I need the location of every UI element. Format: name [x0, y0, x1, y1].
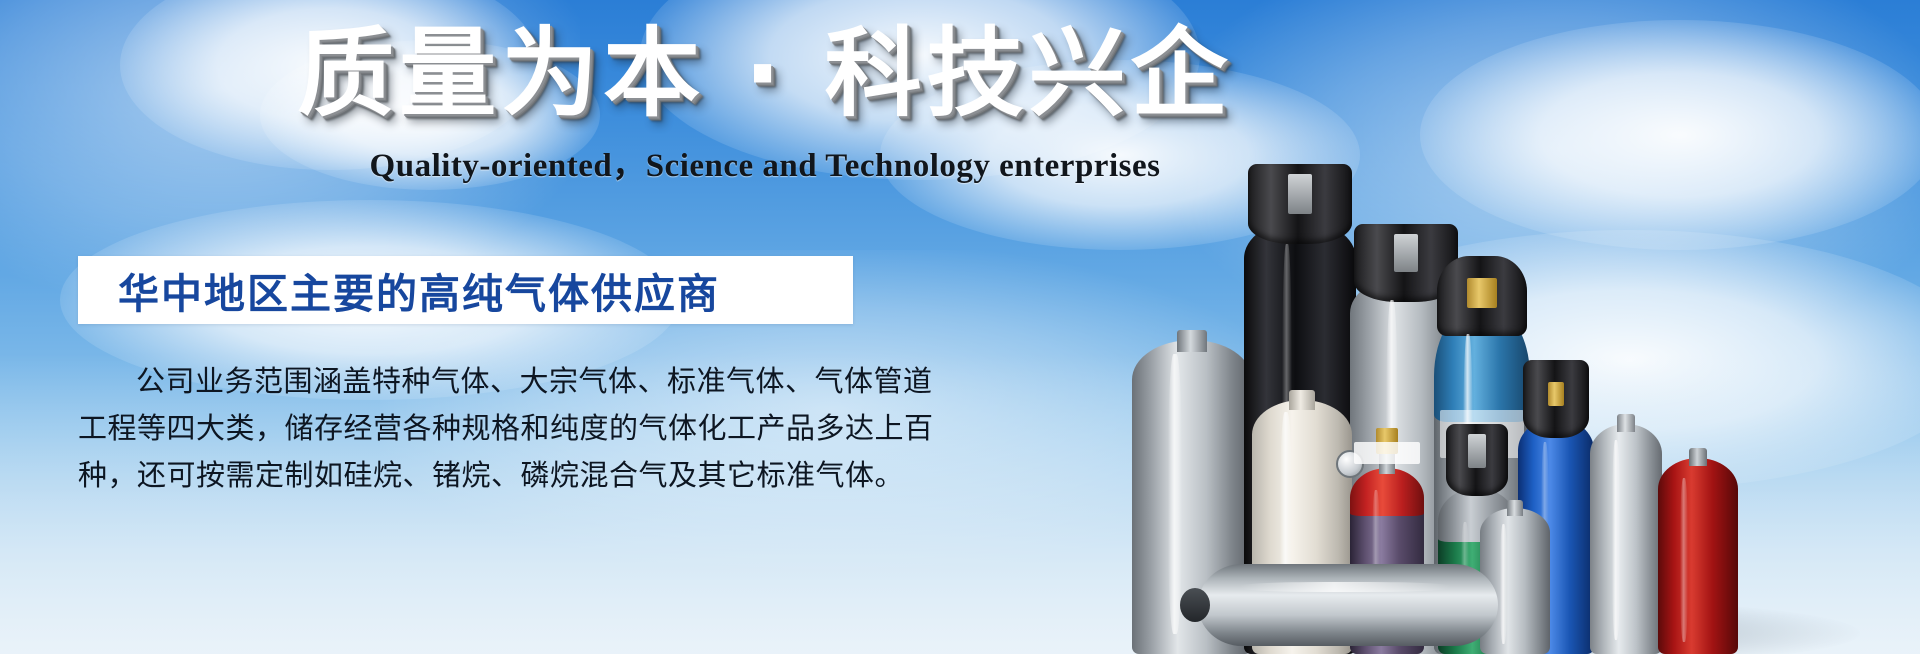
promotional-banner: 质量为本 · 科技兴企 Quality-oriented，Science and…	[0, 0, 1920, 654]
description-line-2: 工程等四大类，储存经营各种规格和纯度的气体化工产品多达上百	[78, 405, 868, 452]
description-line-1: 公司业务范围涵盖特种气体、大宗气体、标准气体、气体管道	[78, 358, 868, 405]
description-line-3: 种，还可按需定制如硅烷、锗烷、磷烷混合气及其它标准气体。	[78, 452, 868, 499]
gas-cylinder-group-image	[1150, 0, 1920, 654]
tagline-text: 华中地区主要的高纯气体供应商	[118, 260, 720, 320]
cylinder-aluminium	[1590, 408, 1662, 654]
tagline-box: 华中地区主要的高纯气体供应商	[78, 256, 853, 324]
cylinder-red-dark	[1658, 446, 1738, 654]
tank-valve-cap-icon	[1180, 588, 1210, 622]
tank-lying-horizontal	[1180, 564, 1510, 646]
description-paragraph: 公司业务范围涵盖特种气体、大宗气体、标准气体、气体管道 工程等四大类，储存经营各…	[78, 358, 868, 499]
page-title: 质量为本 · 科技兴企	[297, 22, 1232, 127]
